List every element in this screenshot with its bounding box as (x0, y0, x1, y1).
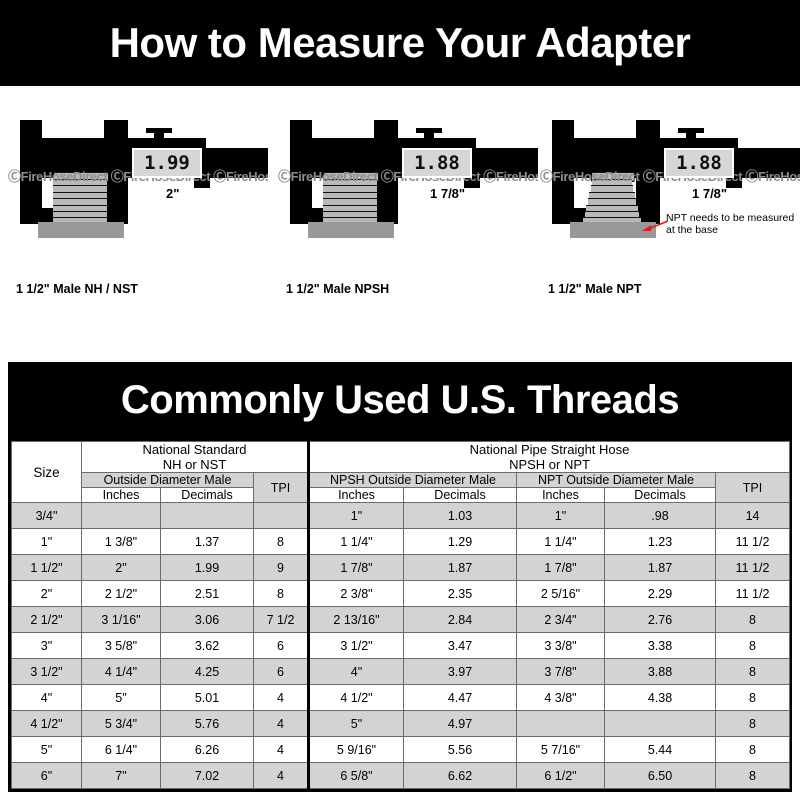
cell-nh-tpi: 4 (254, 685, 309, 711)
col-header-npt-decimals: Decimals (605, 488, 716, 503)
cell-npsh-decimals: 3.97 (404, 659, 517, 685)
col-header-nh-od: Outside Diameter Male (82, 473, 254, 488)
caliper-slider-nub (686, 130, 696, 142)
cell-npt-tpi: 8 (716, 685, 790, 711)
cell-npsh-decimals: 4.47 (404, 685, 517, 711)
figure-caption-npsh: 1 1/2" Male NPSH (286, 282, 536, 296)
cell-npt-inches: 1 1/4" (517, 529, 605, 555)
cell-npt-decimals (605, 711, 716, 737)
cell-nh-tpi: 8 (254, 529, 309, 555)
cell-npt-inches: 5 7/16" (517, 737, 605, 763)
measurement-label-nh: 2" (166, 186, 179, 201)
cell-nh-tpi: 8 (254, 581, 309, 607)
cell-npt-inches: 6 1/2" (517, 763, 605, 789)
caliper-illustration-npt: ⒸFireHoseDirect ⒸFireHoseDirect ⒸFireHos… (540, 108, 800, 258)
cell-npsh-inches: 1 7/8" (309, 555, 404, 581)
caliper-illustration-nh: ⒸFireHoseDirect ⒸFireHoseDirect ⒸFireHos… (8, 108, 268, 258)
cell-npsh-inches: 2 13/16" (309, 607, 404, 633)
col-header-npt-od: NPT Outside Diameter Male (517, 473, 716, 488)
cell-npt-decimals: 2.29 (605, 581, 716, 607)
cell-npsh-decimals: 1.29 (404, 529, 517, 555)
table-head: Size National Standard NH or NST Nationa… (12, 442, 790, 503)
cell-nh-inches: 7" (82, 763, 161, 789)
cell-npt-tpi: 14 (716, 503, 790, 529)
cell-nh-decimals: 1.37 (161, 529, 254, 555)
cell-nh-decimals: 7.02 (161, 763, 254, 789)
group-header-national-standard: National Standard NH or NST (82, 442, 309, 473)
cell-npsh-inches: 5 9/16" (309, 737, 404, 763)
cell-npt-inches: 1 7/8" (517, 555, 605, 581)
cell-nh-decimals (161, 503, 254, 529)
lcd-value: 1.88 (676, 152, 722, 174)
cell-npt-tpi: 11 1/2 (716, 529, 790, 555)
cell-npsh-decimals: 4.97 (404, 711, 517, 737)
table-row: 2"2 1/2"2.5182 3/8"2.352 5/16"2.2911 1/2 (12, 581, 790, 607)
cell-nh-decimals: 3.62 (161, 633, 254, 659)
caliper-lcd-display: 1.88 (664, 148, 734, 178)
measurement-label-npsh: 1 7/8" (430, 186, 465, 201)
cell-size: 2 1/2" (12, 607, 82, 633)
cell-nh-inches: 1 3/8" (82, 529, 161, 555)
cell-nh-inches: 3 1/16" (82, 607, 161, 633)
caliper-lcd-display: 1.88 (402, 148, 472, 178)
cell-npsh-inches: 3 1/2" (309, 633, 404, 659)
cell-npt-decimals: 1.23 (605, 529, 716, 555)
cell-npt-decimals: 3.38 (605, 633, 716, 659)
table-body: 3/4"1"1.031".98141"1 3/8"1.3781 1/4"1.29… (12, 503, 790, 789)
cell-npt-decimals: 3.88 (605, 659, 716, 685)
cell-npsh-inches: 4 1/2" (309, 685, 404, 711)
lcd-value: 1.99 (144, 152, 190, 174)
measurement-label-npt: 1 7/8" (692, 186, 727, 201)
cell-npt-tpi: 8 (716, 737, 790, 763)
threads-title-banner: Commonly Used U.S. Threads (8, 362, 792, 438)
cell-size: 1" (12, 529, 82, 555)
cell-size: 3/4" (12, 503, 82, 529)
table-row: 6"7"7.0246 5/8"6.626 1/2"6.508 (12, 763, 790, 789)
cell-nh-inches: 5 3/4" (82, 711, 161, 737)
cell-nh-decimals: 1.99 (161, 555, 254, 581)
cell-size: 4" (12, 685, 82, 711)
caliper-fixed-upper-jaw (558, 120, 570, 154)
caliper-moving-upper-jaw (640, 120, 652, 154)
table-row: 5"6 1/4"6.2645 9/16"5.565 7/16"5.448 (12, 737, 790, 763)
cell-size: 3" (12, 633, 82, 659)
col-header-npsh-inches: Inches (309, 488, 404, 503)
threaded-fitting-npt (582, 172, 642, 224)
col-header-npsh-decimals: Decimals (404, 488, 517, 503)
cell-npt-decimals: 4.38 (605, 685, 716, 711)
table-row: 1 1/2"2"1.9991 7/8"1.871 7/8"1.8711 1/2 (12, 555, 790, 581)
group-title-line2: NPSH or NPT (310, 457, 789, 472)
cell-npt-decimals: 5.44 (605, 737, 716, 763)
cell-npt-tpi: 8 (716, 633, 790, 659)
table-row: 2 1/2"3 1/16"3.067 1/22 13/16"2.842 3/4"… (12, 607, 790, 633)
thread-stack (50, 172, 110, 224)
cell-nh-tpi: 7 1/2 (254, 607, 309, 633)
threads-table-container: Size National Standard NH or NST Nationa… (8, 438, 792, 792)
caliper-illustration-npsh: ⒸFireHoseDirect ⒸFireHoseDirect ⒸFireHos… (278, 108, 538, 258)
group-title-line2: NH or NST (82, 457, 307, 472)
cell-nh-tpi: 4 (254, 763, 309, 789)
cell-nh-tpi: 9 (254, 555, 309, 581)
cell-nh-inches: 2 1/2" (82, 581, 161, 607)
cell-npt-tpi: 8 (716, 659, 790, 685)
fitting-base (38, 222, 124, 238)
col-header-size: Size (12, 442, 82, 503)
red-arrow-icon (642, 220, 668, 232)
cell-npt-tpi: 11 1/2 (716, 581, 790, 607)
cell-nh-inches: 3 5/8" (82, 633, 161, 659)
cell-npt-decimals: 6.50 (605, 763, 716, 789)
cell-npsh-decimals: 5.56 (404, 737, 517, 763)
header-row-units: Inches Decimals Inches Decimals Inches D… (12, 488, 790, 503)
infographic-page: How to Measure Your Adapter (0, 0, 800, 800)
cell-npt-tpi: 8 (716, 763, 790, 789)
thread-stack-tapered (582, 172, 642, 224)
cell-npsh-decimals: 3.47 (404, 633, 517, 659)
fitting-base (308, 222, 394, 238)
thread-stack (320, 172, 380, 224)
cell-nh-inches: 5" (82, 685, 161, 711)
table-row: 1"1 3/8"1.3781 1/4"1.291 1/4"1.2311 1/2 (12, 529, 790, 555)
caliper-slider-nub (154, 130, 164, 142)
cell-nh-tpi: 4 (254, 711, 309, 737)
cell-nh-inches: 6 1/4" (82, 737, 161, 763)
group-title-line1: National Pipe Straight Hose (310, 442, 789, 457)
cell-nh-decimals: 4.25 (161, 659, 254, 685)
figure-caption-nh: 1 1/2" Male NH / NST (16, 282, 266, 296)
caliper-moving-upper-jaw (108, 120, 120, 154)
cell-npsh-inches: 1 1/4" (309, 529, 404, 555)
cell-npsh-decimals: 2.35 (404, 581, 517, 607)
cell-npt-tpi: 11 1/2 (716, 555, 790, 581)
cell-size: 6" (12, 763, 82, 789)
caliper-moving-upper-jaw (378, 120, 390, 154)
caliper-lcd-display: 1.99 (132, 148, 202, 178)
cell-npt-tpi: 8 (716, 607, 790, 633)
cell-nh-tpi (254, 503, 309, 529)
cell-npt-inches: 2 5/16" (517, 581, 605, 607)
cell-nh-decimals: 5.01 (161, 685, 254, 711)
cell-npsh-inches: 5" (309, 711, 404, 737)
cell-npsh-decimals: 1.03 (404, 503, 517, 529)
cell-nh-tpi: 6 (254, 633, 309, 659)
caliper-fixed-upper-jaw (26, 120, 38, 154)
figure-nh-nst: ⒸFireHoseDirect ⒸFireHoseDirect ⒸFireHos… (8, 86, 268, 362)
lcd-value: 1.88 (414, 152, 460, 174)
cell-nh-tpi: 4 (254, 737, 309, 763)
cell-size: 4 1/2" (12, 711, 82, 737)
group-title-line1: National Standard (82, 442, 307, 457)
cell-size: 5" (12, 737, 82, 763)
group-header-national-pipe-straight-hose: National Pipe Straight Hose NPSH or NPT (309, 442, 790, 473)
header-row-subgroups: Outside Diameter Male TPI NPSH Outside D… (12, 473, 790, 488)
table-row: 3/4"1"1.031".9814 (12, 503, 790, 529)
threads-table: Size National Standard NH or NST Nationa… (11, 441, 790, 789)
npt-annotation: NPT needs to be measured at the base (666, 212, 798, 236)
cell-npt-inches (517, 711, 605, 737)
caliper-fixed-upper-jaw (296, 120, 308, 154)
cell-size: 2" (12, 581, 82, 607)
cell-nh-tpi: 6 (254, 659, 309, 685)
figure-npsh: ⒸFireHoseDirect ⒸFireHoseDirect ⒸFireHos… (278, 86, 538, 362)
col-header-npt-inches: Inches (517, 488, 605, 503)
cell-nh-decimals: 5.76 (161, 711, 254, 737)
cell-npt-inches: 1" (517, 503, 605, 529)
caliper-figures-section: ⒸFireHoseDirect ⒸFireHoseDirect ⒸFireHos… (0, 86, 800, 362)
cell-npt-inches: 4 3/8" (517, 685, 605, 711)
figure-npt: ⒸFireHoseDirect ⒸFireHoseDirect ⒸFireHos… (540, 86, 800, 362)
page-title: How to Measure Your Adapter (110, 22, 691, 64)
cell-npsh-inches: 4" (309, 659, 404, 685)
figure-caption-npt: 1 1/2" Male NPT (548, 282, 798, 296)
cell-nh-decimals: 2.51 (161, 581, 254, 607)
cell-nh-inches: 2" (82, 555, 161, 581)
top-title-banner: How to Measure Your Adapter (0, 0, 800, 86)
cell-npsh-inches: 2 3/8" (309, 581, 404, 607)
threaded-fitting-nh (50, 172, 110, 224)
threads-title: Commonly Used U.S. Threads (121, 380, 679, 420)
cell-npsh-inches: 6 5/8" (309, 763, 404, 789)
table-row: 4 1/2"5 3/4"5.7645"4.978 (12, 711, 790, 737)
cell-npsh-decimals: 2.84 (404, 607, 517, 633)
header-row-groups: Size National Standard NH or NST Nationa… (12, 442, 790, 473)
cell-nh-inches (82, 503, 161, 529)
cell-npsh-decimals: 1.87 (404, 555, 517, 581)
threaded-fitting-npsh (320, 172, 380, 224)
cell-npt-inches: 3 3/8" (517, 633, 605, 659)
cell-nh-decimals: 3.06 (161, 607, 254, 633)
col-header-nh-inches: Inches (82, 488, 161, 503)
col-header-nh-tpi: TPI (254, 473, 309, 503)
col-header-nh-decimals: Decimals (161, 488, 254, 503)
caliper-slider-nub (424, 130, 434, 142)
table-row: 4"5"5.0144 1/2"4.474 3/8"4.388 (12, 685, 790, 711)
cell-npt-decimals: .98 (605, 503, 716, 529)
col-header-npsh-od: NPSH Outside Diameter Male (309, 473, 517, 488)
cell-npt-decimals: 2.76 (605, 607, 716, 633)
cell-nh-decimals: 6.26 (161, 737, 254, 763)
cell-npt-tpi: 8 (716, 711, 790, 737)
col-header-npt-tpi: TPI (716, 473, 790, 503)
cell-nh-inches: 4 1/4" (82, 659, 161, 685)
cell-npsh-inches: 1" (309, 503, 404, 529)
table-row: 3 1/2"4 1/4"4.2564"3.973 7/8"3.888 (12, 659, 790, 685)
npt-annotation-text: NPT needs to be measured at the base (666, 212, 794, 236)
cell-size: 1 1/2" (12, 555, 82, 581)
table-row: 3"3 5/8"3.6263 1/2"3.473 3/8"3.388 (12, 633, 790, 659)
cell-npt-decimals: 1.87 (605, 555, 716, 581)
cell-npsh-decimals: 6.62 (404, 763, 517, 789)
cell-size: 3 1/2" (12, 659, 82, 685)
cell-npt-inches: 3 7/8" (517, 659, 605, 685)
cell-npt-inches: 2 3/4" (517, 607, 605, 633)
